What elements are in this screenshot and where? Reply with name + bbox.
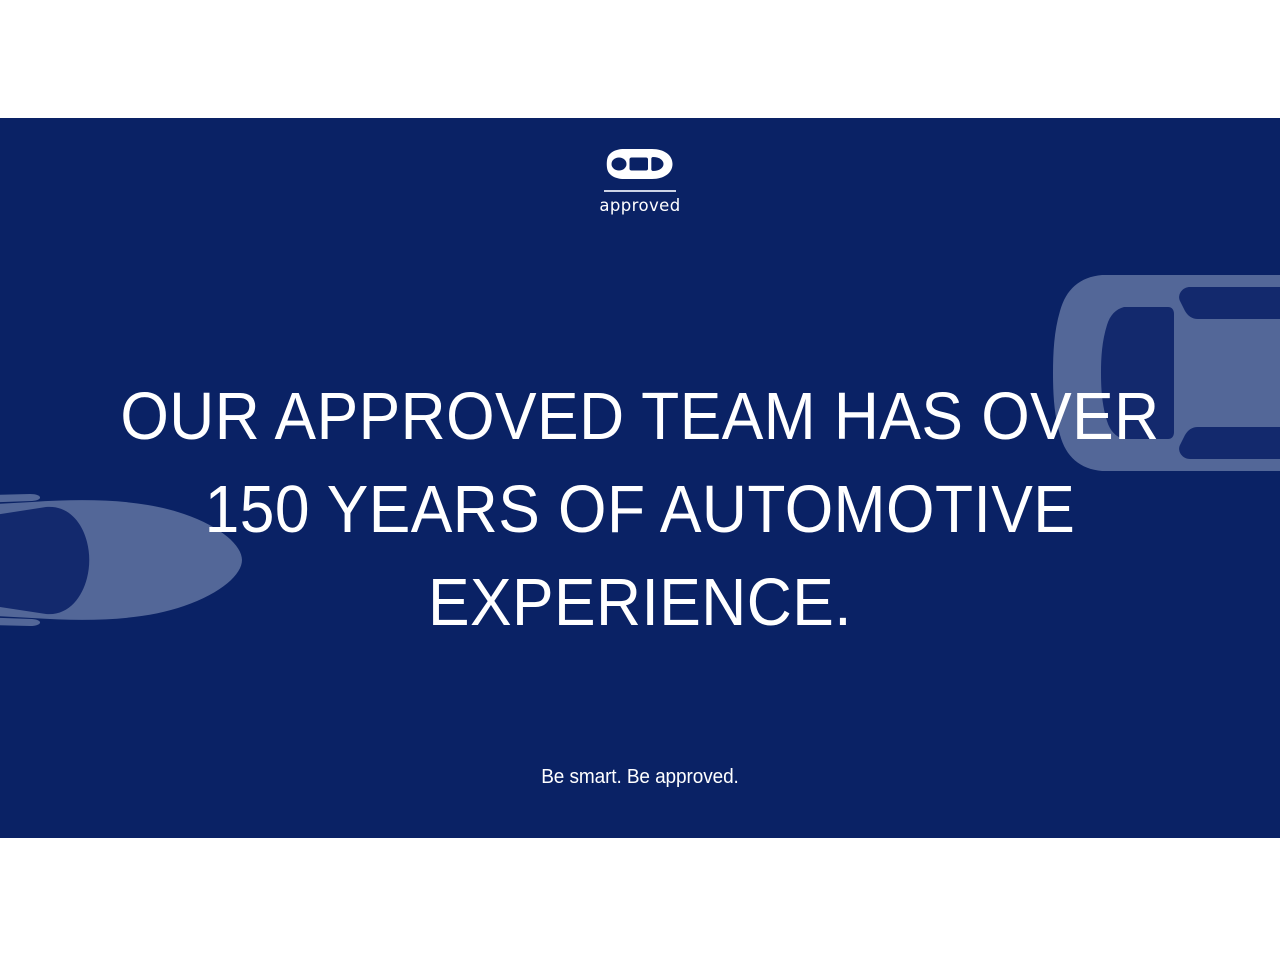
headline-line-3: EXPERIENCE.: [45, 556, 1235, 649]
logo-wordmark: approved: [599, 197, 680, 215]
promo-banner: approved OUR APPROVED TEAM HAS OVER 150 …: [0, 118, 1280, 838]
headline-line-1: OUR APPROVED TEAM HAS OVER: [45, 370, 1235, 463]
logo-divider: [604, 190, 676, 192]
tagline: Be smart. Be approved.: [32, 766, 1248, 789]
page-title: OUR APPROVED TEAM HAS OVER 150 YEARS OF …: [45, 370, 1235, 649]
car-top-view-icon: [606, 148, 674, 180]
banner-page: approved OUR APPROVED TEAM HAS OVER 150 …: [0, 0, 1280, 960]
headline-line-2: 150 YEARS OF AUTOMOTIVE: [45, 463, 1235, 556]
approved-logo: approved: [0, 148, 1280, 215]
